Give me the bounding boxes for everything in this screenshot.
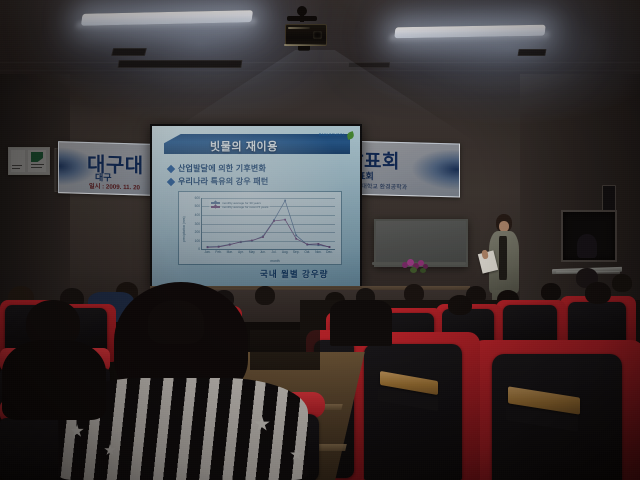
chart-x-tick: Sep. [293,250,300,254]
chart-y-tick: 300 [195,222,200,226]
legend-label: monthly average for recent 5 years [222,205,268,209]
chart-x-axis-label: month [270,259,279,263]
chart-gridline [202,215,335,216]
fluorescent-tube-left [81,10,253,26]
presenter-inner-shirt [499,236,507,280]
booth-operator [577,234,597,258]
audience-head [148,300,204,344]
wall-speaker [602,185,616,211]
chart-x-tick: Jun. [260,250,266,254]
diamond-bullet-icon [167,164,175,172]
lecture-hall-photo: 대구대 대구 일시 : 2009. 11. 20 발표회 발표회 : 대구대학교… [0,0,640,480]
slide-bullet-1-text: 산업발달에 의한 기후변화 [178,163,266,174]
rainfall-chart: 0100200300400500600Jan.Feb.Mar.Apr.MayJu… [178,191,342,265]
audience-head [541,283,561,301]
chart-data-point [295,235,297,237]
chart-y-tick: 600 [195,196,200,200]
flower-arrangement [400,258,434,276]
chart-legend-item: monthly average for recent 5 years [211,205,268,209]
chart-x-tick: Feb. [215,250,221,254]
chart-data-point [284,200,286,202]
fluorescent-tube-right [394,25,545,39]
diamond-bullet-icon [167,177,175,185]
slide-logo-text: RAIN SCHOOL [319,133,345,137]
air-vent [111,48,147,56]
slide-caption: 국내 월별 강우량 [260,268,328,280]
projector-bracket [287,16,317,21]
ceiling-seam [0,70,640,71]
chart-x-tick: Apr. [238,250,244,254]
chart-x-tick: Jan. [205,250,211,254]
chart-x-tick: Dec. [326,250,333,254]
air-vent [517,49,546,56]
audience-torso [330,300,392,346]
slide-bullet-2-text: 우리나라 특유의 강우 패턴 [178,176,268,187]
chart-data-point [207,246,209,248]
chart-x-tick: Nov. [315,250,321,254]
chart-x-tick: May [249,250,255,254]
audience-torso [2,340,106,420]
chart-data-point [306,243,308,245]
chart-data-point [317,243,319,245]
chart-x-tick: Oct. [304,250,310,254]
audience-head [612,274,632,292]
chart-y-tick: 200 [195,230,200,234]
chart-gridline [202,241,335,242]
slide-title: 빗물의 재이용 [210,138,278,154]
chart-data-point [329,246,331,248]
chart-data-point [295,238,297,240]
air-vent [117,60,242,68]
chart-x-tick: Mar. [227,250,233,254]
projection-booth-window [561,210,617,262]
slide-bullet-2: 우리나라 특유의 강우 패턴 [168,176,268,187]
slide-logo: RAIN SCHOOL [319,132,354,139]
chart-y-tick: 500 [195,204,200,208]
chart-x-tick: Jul. [272,250,277,254]
chart-gridline [202,198,335,199]
chart-y-axis-label: precipitation (mm) [182,216,186,242]
chart-data-point [273,220,275,222]
chart-gridline [202,232,335,233]
chart-y-tick: 400 [195,213,200,217]
chart-data-point [229,244,231,246]
slide-bullet-1: 산업발달에 의한 기후변화 [168,163,266,174]
ceiling-projector [285,24,327,46]
chart-y-tick: 0 [198,247,200,251]
wall-notice-poster [8,147,50,175]
chart-data-point [262,236,264,238]
projector-foot [298,46,310,51]
chart-x-tick: Aug. [282,250,289,254]
audience-head [448,295,472,315]
chart-legend: monthly average for 30 yearsmonthly aver… [209,200,270,210]
chart-gridline [202,224,335,225]
chart-y-tick: 100 [195,239,200,243]
leaf-icon [346,131,355,140]
legend-swatch-icon [211,206,220,208]
presentation-slide: 빗물의 재이용 RAIN SCHOOL 산업발달에 의한 기후변화 우리나라 특… [152,126,360,286]
chart-data-point [218,246,220,248]
audience-dark-coat [0,300,110,420]
audience-head [585,282,611,304]
air-vent [348,62,391,68]
ceiling-seam [0,62,640,63]
chart-data-point [284,219,286,221]
